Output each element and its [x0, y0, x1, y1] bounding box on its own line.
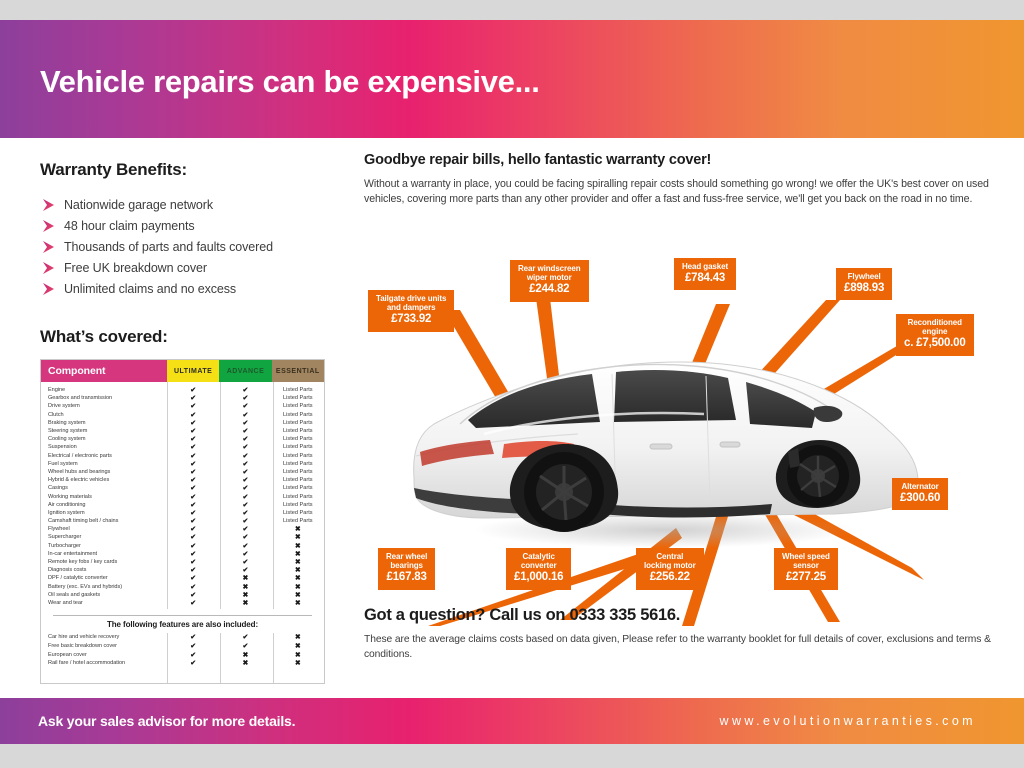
callout-label: Alternator: [900, 482, 940, 491]
cell-ultimate: ✔: [167, 566, 219, 574]
callout-price: £277.25: [782, 571, 830, 584]
callout-catalytic-converter: Catalytic converter £1,000.16: [506, 548, 571, 590]
cell-advance: ✖: [219, 659, 271, 667]
callout-rear-wheel-bearings: Rear wheel bearings £167.83: [378, 548, 435, 590]
row-component-name: Engine: [41, 387, 167, 393]
row-component-name: Cooling system: [41, 436, 167, 442]
cell-essential: ✖: [272, 599, 324, 607]
cell-ultimate: ✔: [167, 633, 219, 641]
table-row: Camshaft timing belt / chains✔✔Listed Pa…: [41, 517, 324, 525]
cell-essential: Listed Parts: [272, 485, 324, 491]
table-row: Drive system✔✔Listed Parts: [41, 402, 324, 410]
row-component-name: Hybrid & electric vehicles: [41, 477, 167, 483]
callout-head-gasket: Head gasket £784.43: [674, 258, 736, 290]
page-title: Vehicle repairs can be expensive...: [40, 64, 540, 100]
benefit-item: Thousands of parts and faults covered: [40, 236, 340, 257]
cell-advance: ✔: [219, 633, 271, 641]
cell-advance: ✔: [219, 533, 271, 541]
cell-ultimate: ✔: [167, 509, 219, 517]
cell-advance: ✔: [219, 443, 271, 451]
callout-label: Rear wheel bearings: [386, 552, 427, 570]
table-row: Electrical / electronic parts✔✔Listed Pa…: [41, 452, 324, 460]
callout-label: Rear windscreen wiper motor: [518, 264, 581, 282]
cell-advance: ✔: [219, 452, 271, 460]
callout-price: £244.82: [518, 283, 581, 296]
callout-alternator: Alternator £300.60: [892, 478, 948, 510]
cell-advance: ✔: [219, 460, 271, 468]
callout-price: £733.92: [376, 313, 446, 326]
cell-advance: ✔: [219, 542, 271, 550]
cell-essential: Listed Parts: [272, 518, 324, 524]
row-component-name: Fuel system: [41, 461, 167, 467]
callout-central-locking-motor: Central locking motor £256.22: [636, 548, 704, 590]
cell-essential: Listed Parts: [272, 453, 324, 459]
intro-heading: Goodbye repair bills, hello fantastic wa…: [364, 152, 1000, 168]
callout-price: £784.43: [682, 272, 728, 285]
row-component-name: Drive system: [41, 403, 167, 409]
row-component-name: DPF / catalytic converter: [41, 575, 167, 581]
callout-wheel-speed-sensor: Wheel speed sensor £277.25: [774, 548, 838, 590]
table-row: Flywheel✔✔✖: [41, 525, 324, 533]
cell-advance: ✔: [219, 509, 271, 517]
cell-essential: Listed Parts: [272, 510, 324, 516]
poster-page: Vehicle repairs can be expensive... Warr…: [0, 0, 1024, 768]
callout-wiper-motor: Rear windscreen wiper motor £244.82: [510, 260, 589, 302]
cell-essential: Listed Parts: [272, 502, 324, 508]
table-row: Fuel system✔✔Listed Parts: [41, 460, 324, 468]
callout-reconditioned-engine: Reconditioned engine c. £7,500.00: [896, 314, 974, 356]
cell-advance: ✔: [219, 550, 271, 558]
callout-price: £256.22: [644, 571, 696, 584]
column-header-advance: ADVANCE: [219, 360, 271, 382]
row-component-name: Air conditioning: [41, 502, 167, 508]
cell-ultimate: ✔: [167, 452, 219, 460]
cell-essential: ✖: [272, 633, 324, 641]
table-body: Engine✔✔Listed PartsGearbox and transmis…: [41, 382, 324, 609]
cell-essential: ✖: [272, 542, 324, 550]
row-component-name: Casings: [41, 485, 167, 491]
table-row: Casings✔✔Listed Parts: [41, 484, 324, 492]
row-component-name: In-car entertainment: [41, 551, 167, 557]
cell-advance: ✖: [219, 583, 271, 591]
table-row: Rail fare / hotel accommodation✔✖✖: [41, 659, 324, 668]
cell-advance: ✔: [219, 525, 271, 533]
table-row: Supercharger✔✔✖: [41, 533, 324, 541]
cell-essential: ✖: [272, 558, 324, 566]
table-row: Turbocharger✔✔✖: [41, 542, 324, 550]
cell-ultimate: ✔: [167, 402, 219, 410]
warranty-benefits-title: Warranty Benefits:: [40, 160, 340, 180]
cell-essential: Listed Parts: [272, 412, 324, 418]
contact-disclaimer: These are the average claims costs based…: [364, 633, 1004, 663]
cell-essential: ✖: [272, 533, 324, 541]
footer-cta: Ask your sales advisor for more details.: [38, 713, 295, 729]
benefit-item: 48 hour claim payments: [40, 215, 340, 236]
cell-advance: ✖: [219, 574, 271, 582]
cell-ultimate: ✔: [167, 460, 219, 468]
benefit-label: Unlimited claims and no excess: [64, 282, 236, 296]
cell-essential: Listed Parts: [272, 494, 324, 500]
cell-essential: ✖: [272, 574, 324, 582]
cell-ultimate: ✔: [167, 427, 219, 435]
cell-ultimate: ✔: [167, 468, 219, 476]
extras-title: The following features are also included…: [41, 616, 324, 633]
cell-ultimate: ✔: [167, 591, 219, 599]
row-component-name: Wheel hubs and bearings: [41, 469, 167, 475]
benefit-label: Free UK breakdown cover: [64, 261, 207, 275]
cell-ultimate: ✔: [167, 443, 219, 451]
callout-price: £1,000.16: [514, 571, 563, 584]
column-header-essential: ESSENTIAL: [272, 360, 324, 382]
cell-advance: ✔: [219, 411, 271, 419]
row-component-name: Steering system: [41, 428, 167, 434]
cell-ultimate: ✔: [167, 435, 219, 443]
callout-label: Flywheel: [844, 272, 884, 281]
table-row: Cooling system✔✔Listed Parts: [41, 435, 324, 443]
table-row: Ignition system✔✔Listed Parts: [41, 509, 324, 517]
footer-banner: Ask your sales advisor for more details.…: [0, 698, 1024, 744]
benefits-list: Nationwide garage network 48 hour claim …: [40, 194, 340, 299]
cell-ultimate: ✔: [167, 542, 219, 550]
row-component-name: Diagnosis costs: [41, 567, 167, 573]
cell-essential: ✖: [272, 591, 324, 599]
cell-ultimate: ✔: [167, 501, 219, 509]
cell-essential: Listed Parts: [272, 428, 324, 434]
cell-ultimate: ✔: [167, 599, 219, 607]
callout-flywheel: Flywheel £898.93: [836, 268, 892, 300]
row-component-name: Rail fare / hotel accommodation: [41, 660, 167, 666]
whats-covered-title: What’s covered:: [40, 327, 340, 347]
cell-advance: ✔: [219, 493, 271, 501]
chevron-right-icon: [40, 281, 60, 297]
cell-ultimate: ✔: [167, 642, 219, 650]
cell-essential: ✖: [272, 583, 324, 591]
table-row: Oil seals and gaskets✔✖✖: [41, 591, 324, 599]
cell-essential: Listed Parts: [272, 436, 324, 442]
header-banner: Vehicle repairs can be expensive...: [0, 20, 1024, 138]
cell-ultimate: ✔: [167, 550, 219, 558]
callout-label: Tailgate drive units and dampers: [376, 294, 446, 312]
benefit-item: Nationwide garage network: [40, 194, 340, 215]
table-row: Clutch✔✔Listed Parts: [41, 411, 324, 419]
row-component-name: Flywheel: [41, 526, 167, 532]
cell-essential: Listed Parts: [272, 469, 324, 475]
cell-advance: ✔: [219, 394, 271, 402]
cell-advance: ✔: [219, 402, 271, 410]
callout-label: Catalytic converter: [514, 552, 563, 570]
cell-advance: ✔: [219, 435, 271, 443]
cell-essential: Listed Parts: [272, 477, 324, 483]
row-component-name: Working materials: [41, 494, 167, 500]
row-component-name: Free basic breakdown cover: [41, 643, 167, 649]
callout-price: £300.60: [900, 492, 940, 505]
cell-advance: ✔: [219, 566, 271, 574]
chevron-right-icon: [40, 218, 60, 234]
cell-advance: ✔: [219, 427, 271, 435]
cell-ultimate: ✔: [167, 476, 219, 484]
row-component-name: Electrical / electronic parts: [41, 453, 167, 459]
contact-block: Got a question? Call us on 0333 335 5616…: [364, 606, 1004, 663]
cell-essential: Listed Parts: [272, 444, 324, 450]
callout-tailgate: Tailgate drive units and dampers £733.92: [368, 290, 454, 332]
right-column: Goodbye repair bills, hello fantastic wa…: [364, 152, 1000, 207]
table-row: DPF / catalytic converter✔✖✖: [41, 574, 324, 582]
table-row: Working materials✔✔Listed Parts: [41, 492, 324, 500]
table-row: Free basic breakdown cover✔✔✖: [41, 642, 324, 651]
table-row: Air conditioning✔✔Listed Parts: [41, 501, 324, 509]
row-component-name: Remote key fobs / key cards: [41, 559, 167, 565]
row-component-name: Gearbox and transmission: [41, 395, 167, 401]
cell-ultimate: ✔: [167, 419, 219, 427]
cell-advance: ✔: [219, 476, 271, 484]
cell-essential: Listed Parts: [272, 420, 324, 426]
benefit-item: Unlimited claims and no excess: [40, 278, 340, 299]
cell-advance: ✖: [219, 591, 271, 599]
row-component-name: Car hire and vehicle recovery: [41, 634, 167, 640]
row-component-name: Battery (exc. EVs and hybrids): [41, 584, 167, 590]
table-row: Steering system✔✔Listed Parts: [41, 427, 324, 435]
table-row: Gearbox and transmission✔✔Listed Parts: [41, 394, 324, 402]
footer-website[interactable]: www.evolutionwarranties.com: [720, 714, 976, 728]
benefit-label: Thousands of parts and faults covered: [64, 240, 273, 254]
cell-ultimate: ✔: [167, 493, 219, 501]
intro-paragraph: Without a warranty in place, you could b…: [364, 177, 1000, 207]
table-row: Diagnosis costs✔✔✖: [41, 566, 324, 574]
callout-price: £898.93: [844, 282, 884, 295]
row-component-name: Clutch: [41, 412, 167, 418]
table-row: Wear and tear✔✖✖: [41, 599, 324, 607]
cell-advance: ✔: [219, 386, 271, 394]
cell-ultimate: ✔: [167, 394, 219, 402]
callout-label: Head gasket: [682, 262, 728, 271]
cell-advance: ✖: [219, 599, 271, 607]
cell-ultimate: ✔: [167, 574, 219, 582]
row-component-name: European cover: [41, 652, 167, 658]
table-row: Engine✔✔Listed Parts: [41, 386, 324, 394]
table-row: European cover✔✖✖: [41, 650, 324, 659]
cell-essential: Listed Parts: [272, 395, 324, 401]
cell-advance: ✔: [219, 501, 271, 509]
extras-body: Car hire and vehicle recovery✔✔✖Free bas…: [41, 633, 324, 683]
row-component-name: Suspension: [41, 444, 167, 450]
row-component-name: Ignition system: [41, 510, 167, 516]
cell-essential: ✖: [272, 525, 324, 533]
cell-ultimate: ✔: [167, 525, 219, 533]
row-component-name: Wear and tear: [41, 600, 167, 606]
cell-essential: Listed Parts: [272, 403, 324, 409]
benefit-label: Nationwide garage network: [64, 198, 213, 212]
cell-advance: ✔: [219, 558, 271, 566]
benefit-label: 48 hour claim payments: [64, 219, 195, 233]
cell-advance: ✔: [219, 642, 271, 650]
cell-ultimate: ✔: [167, 583, 219, 591]
cell-ultimate: ✔: [167, 651, 219, 659]
chevron-right-icon: [40, 260, 60, 276]
benefit-item: Free UK breakdown cover: [40, 257, 340, 278]
cell-advance: ✔: [219, 419, 271, 427]
table-row: Wheel hubs and bearings✔✔Listed Parts: [41, 468, 324, 476]
callout-price: £167.83: [386, 571, 427, 584]
cell-ultimate: ✔: [167, 386, 219, 394]
callout-label: Central locking motor: [644, 552, 696, 570]
cell-essential: Listed Parts: [272, 387, 324, 393]
row-component-name: Supercharger: [41, 534, 167, 540]
cell-essential: ✖: [272, 550, 324, 558]
table-row: Car hire and vehicle recovery✔✔✖: [41, 633, 324, 642]
table-row: Hybrid & electric vehicles✔✔Listed Parts: [41, 476, 324, 484]
cell-advance: ✔: [219, 484, 271, 492]
table-row: In-car entertainment✔✔✖: [41, 550, 324, 558]
cell-essential: ✖: [272, 651, 324, 659]
row-component-name: Turbocharger: [41, 543, 167, 549]
callout-price: c. £7,500.00: [904, 337, 966, 350]
chevron-right-icon: [40, 197, 60, 213]
contact-heading: Got a question? Call us on 0333 335 5616…: [364, 606, 1004, 625]
coverage-table: Component ULTIMATE ADVANCE ESSENTIAL Eng…: [40, 359, 325, 684]
table-row: Battery (exc. EVs and hybrids)✔✖✖: [41, 583, 324, 591]
left-column: Warranty Benefits: Nationwide garage net…: [40, 160, 340, 684]
cell-advance: ✔: [219, 517, 271, 525]
cell-essential: ✖: [272, 659, 324, 667]
content-area: Warranty Benefits: Nationwide garage net…: [0, 138, 1024, 698]
row-component-name: Braking system: [41, 420, 167, 426]
cell-ultimate: ✔: [167, 533, 219, 541]
chevron-right-icon: [40, 239, 60, 255]
table-row: Braking system✔✔Listed Parts: [41, 419, 324, 427]
column-header-component: Component: [41, 360, 167, 382]
cell-advance: ✔: [219, 468, 271, 476]
cell-ultimate: ✔: [167, 517, 219, 525]
table-row: Suspension✔✔Listed Parts: [41, 443, 324, 451]
cell-ultimate: ✔: [167, 659, 219, 667]
table-row: Remote key fobs / key cards✔✔✖: [41, 558, 324, 566]
callout-label: Reconditioned engine: [904, 318, 966, 336]
row-component-name: Camshaft timing belt / chains: [41, 518, 167, 524]
callout-label: Wheel speed sensor: [782, 552, 830, 570]
column-header-ultimate: ULTIMATE: [167, 360, 219, 382]
cell-essential: ✖: [272, 642, 324, 650]
cell-advance: ✖: [219, 651, 271, 659]
table-header-row: Component ULTIMATE ADVANCE ESSENTIAL: [41, 360, 324, 382]
cell-ultimate: ✔: [167, 484, 219, 492]
cell-essential: Listed Parts: [272, 461, 324, 467]
cell-ultimate: ✔: [167, 411, 219, 419]
cell-ultimate: ✔: [167, 558, 219, 566]
cell-essential: ✖: [272, 566, 324, 574]
row-component-name: Oil seals and gaskets: [41, 592, 167, 598]
